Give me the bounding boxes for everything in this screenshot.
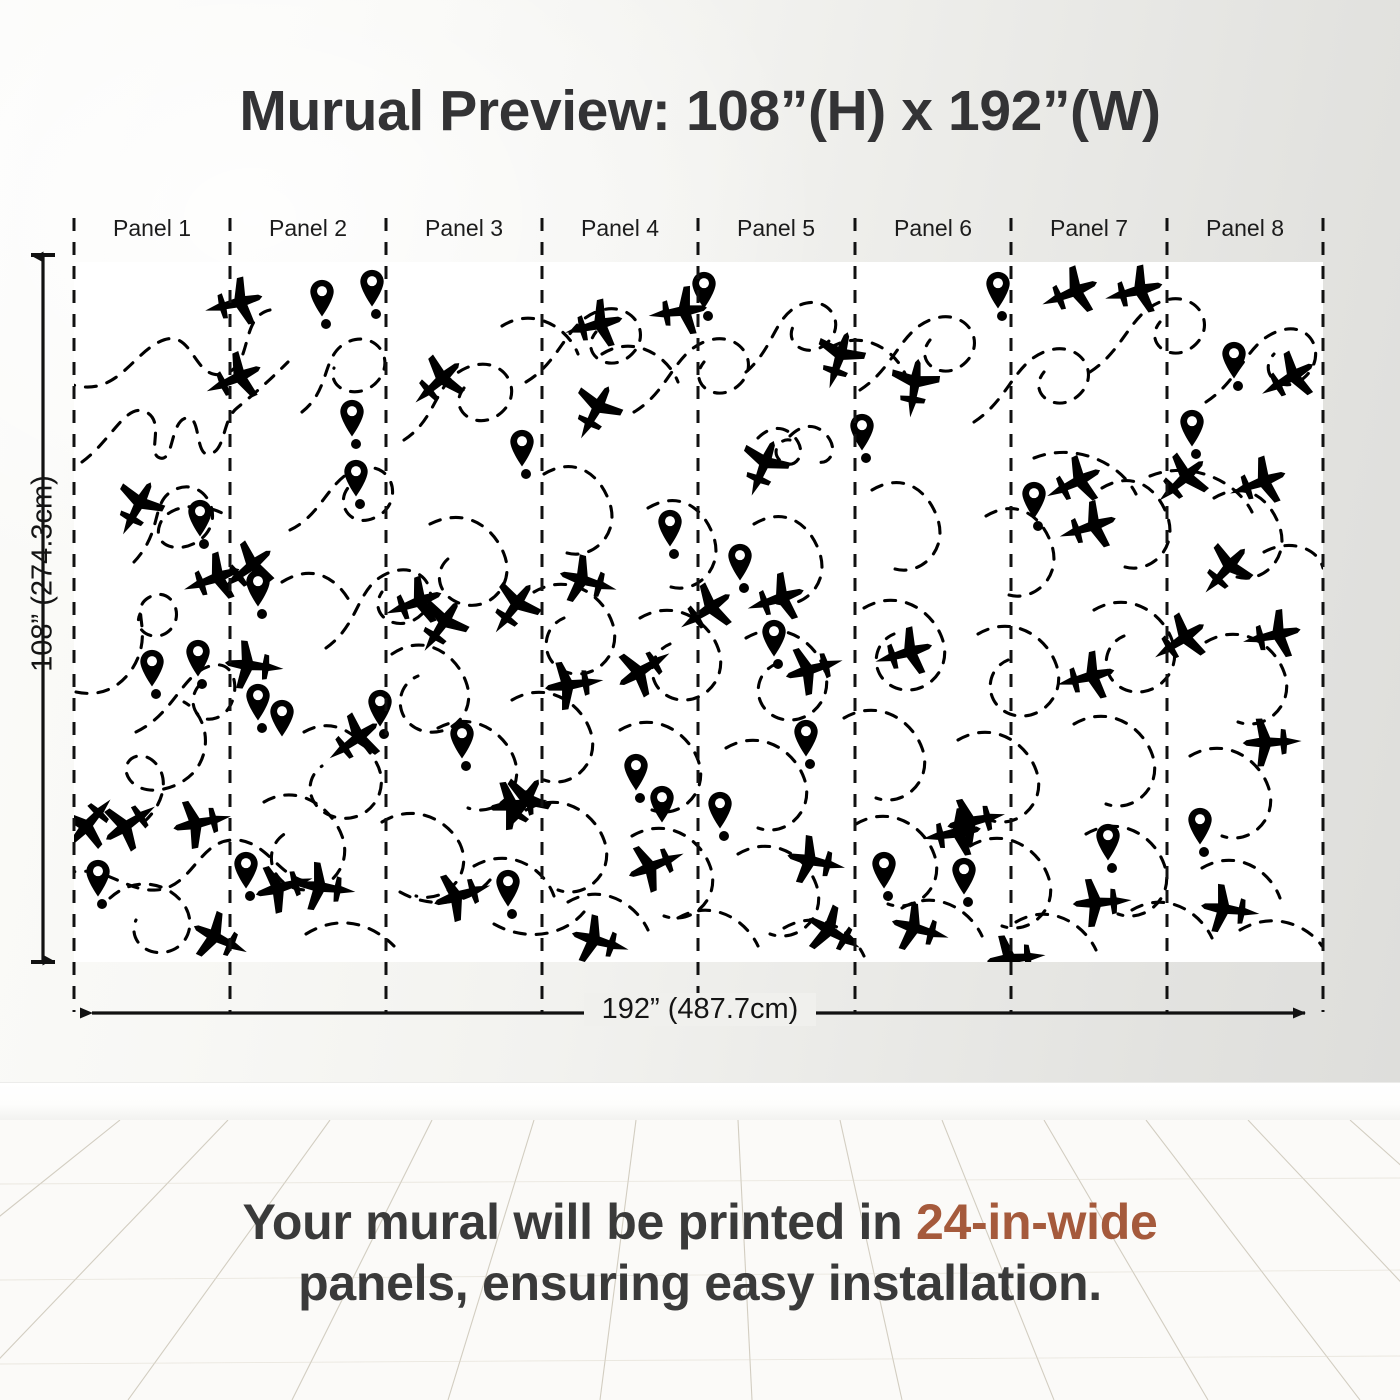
- panel-label-3: Panel 3: [386, 215, 542, 242]
- caption-line-1-prefix: Your mural will be printed in: [243, 1194, 916, 1250]
- mural-preview-scene: Murual Preview: 108”(H) x 192”(W): [0, 0, 1400, 1400]
- width-dimension-label: 192” (487.7cm): [0, 993, 1400, 1026]
- wall-baseboard: [0, 1082, 1400, 1122]
- panel-label-6: Panel 6: [855, 215, 1011, 242]
- caption-line-1: Your mural will be printed in 24-in-wide: [0, 1192, 1400, 1253]
- panel-label-1: Panel 1: [74, 215, 230, 242]
- caption-text: Your mural will be printed in 24-in-wide…: [0, 1192, 1400, 1313]
- caption-line-2: panels, ensuring easy installation.: [0, 1253, 1400, 1314]
- height-dimension-label: 108” (274.3cm): [27, 424, 60, 724]
- panel-label-7: Panel 7: [1011, 215, 1167, 242]
- panel-label-8: Panel 8: [1167, 215, 1323, 242]
- panel-label-5: Panel 5: [698, 215, 854, 242]
- panel-label-4: Panel 4: [542, 215, 698, 242]
- caption-accent-text: 24-in-wide: [916, 1194, 1157, 1250]
- panel-label-row: Panel 1 Panel 2 Panel 3 Panel 4 Panel 5 …: [74, 215, 1323, 249]
- width-dimension-text: 192” (487.7cm): [584, 993, 817, 1026]
- page-title: Murual Preview: 108”(H) x 192”(W): [0, 78, 1400, 144]
- panel-label-2: Panel 2: [230, 215, 386, 242]
- mural-artwork: [74, 262, 1323, 962]
